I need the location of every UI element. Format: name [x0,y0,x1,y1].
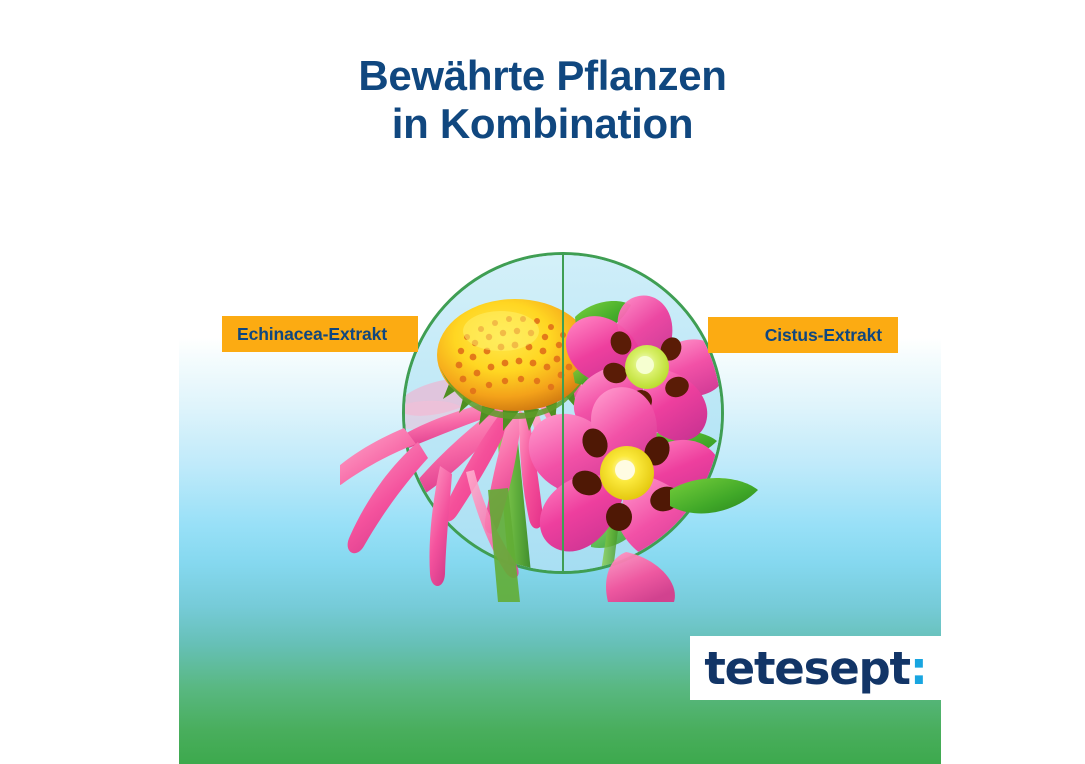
page-title: Bewährte Pflanzen in Kombination [0,52,1085,148]
circle-divider [562,252,564,574]
tetesept-wordmark-text: tetesept [704,642,910,695]
label-echinacea-text: Echinacea-Extrakt [237,324,387,345]
tetesept-colon: : [910,642,927,695]
label-echinacea-extrakt: Echinacea-Extrakt [222,316,418,352]
label-cistus-text: Cistus-Extrakt [765,325,882,346]
page-title-line-2: in Kombination [0,100,1085,148]
tetesept-wordmark: tetesept: [704,646,926,691]
tetesept-logo: tetesept: [690,636,941,700]
page-title-line-1: Bewährte Pflanzen [0,52,1085,100]
label-cistus-extrakt: Cistus-Extrakt [708,317,898,353]
